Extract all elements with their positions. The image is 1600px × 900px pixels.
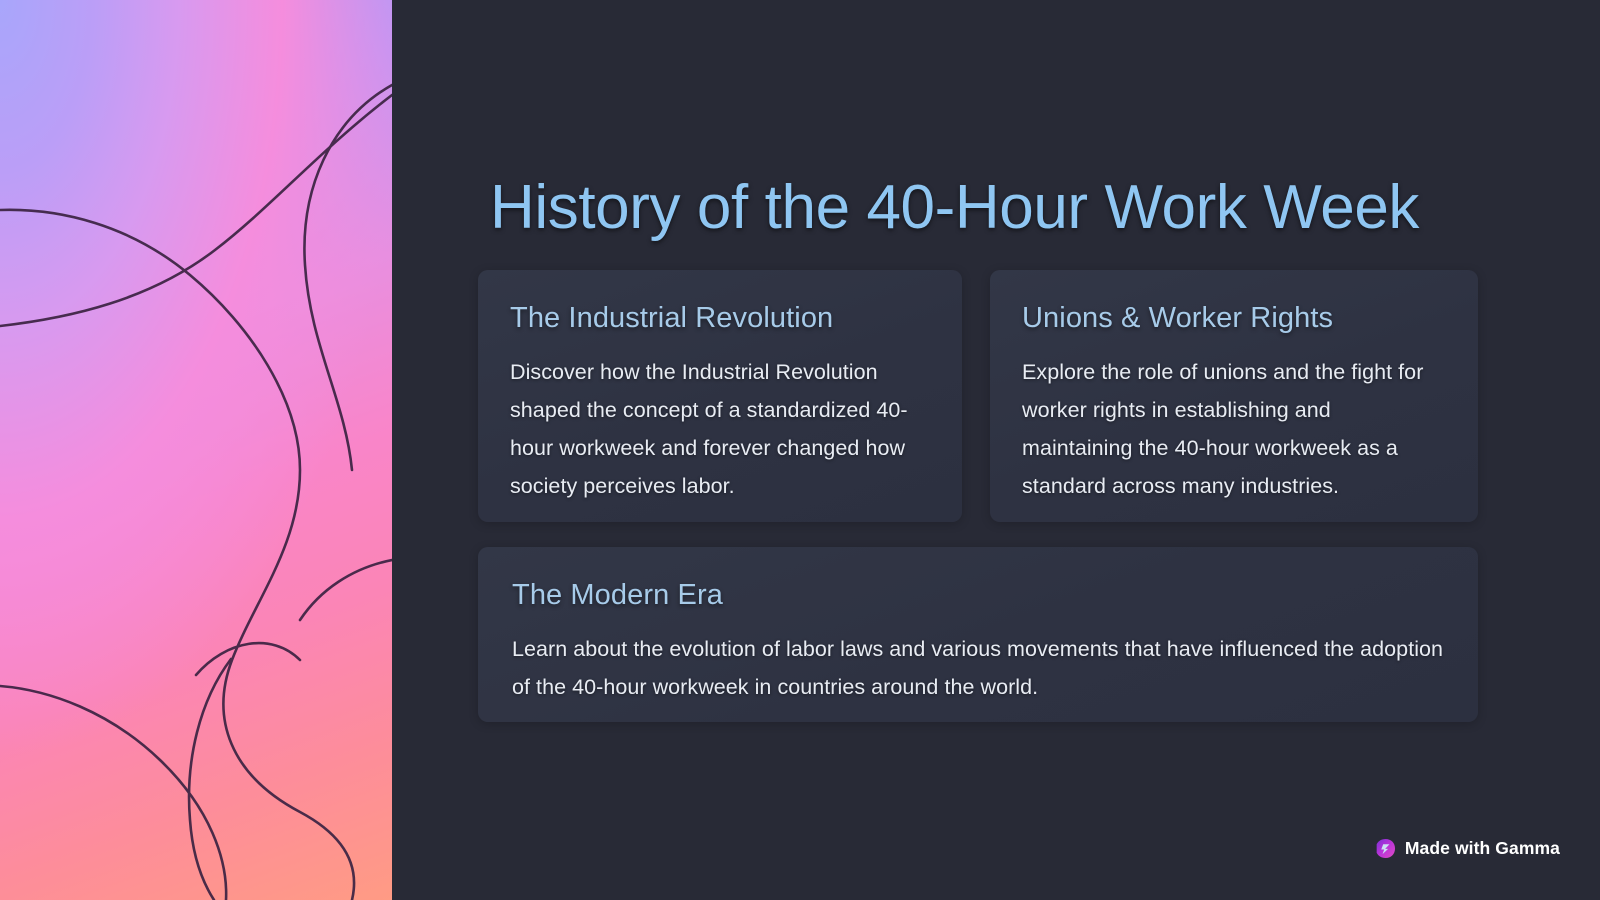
slide-content: History of the 40-Hour Work Week The Ind… bbox=[392, 0, 1600, 900]
card-title: The Modern Era bbox=[512, 577, 1444, 613]
badge-label: Made with Gamma bbox=[1405, 838, 1560, 859]
page-title: History of the 40-Hour Work Week bbox=[490, 170, 1500, 246]
card-body: Learn about the evolution of labor laws … bbox=[512, 630, 1444, 706]
card-body: Explore the role of unions and the fight… bbox=[1022, 353, 1446, 505]
card-title: Unions & Worker Rights bbox=[1022, 300, 1446, 336]
decorative-gradient-panel bbox=[0, 0, 392, 900]
card-unions-worker-rights[interactable]: Unions & Worker Rights Explore the role … bbox=[990, 270, 1478, 522]
made-with-gamma-badge[interactable]: Made with Gamma bbox=[1373, 835, 1562, 862]
card-industrial-revolution[interactable]: The Industrial Revolution Discover how t… bbox=[478, 270, 962, 522]
card-modern-era[interactable]: The Modern Era Learn about the evolution… bbox=[478, 547, 1478, 722]
card-title: The Industrial Revolution bbox=[510, 300, 930, 336]
slide-canvas: History of the 40-Hour Work Week The Ind… bbox=[0, 0, 1600, 900]
abstract-line-art bbox=[0, 0, 392, 900]
gamma-logo-icon bbox=[1375, 838, 1396, 859]
card-body: Discover how the Industrial Revolution s… bbox=[510, 353, 930, 505]
